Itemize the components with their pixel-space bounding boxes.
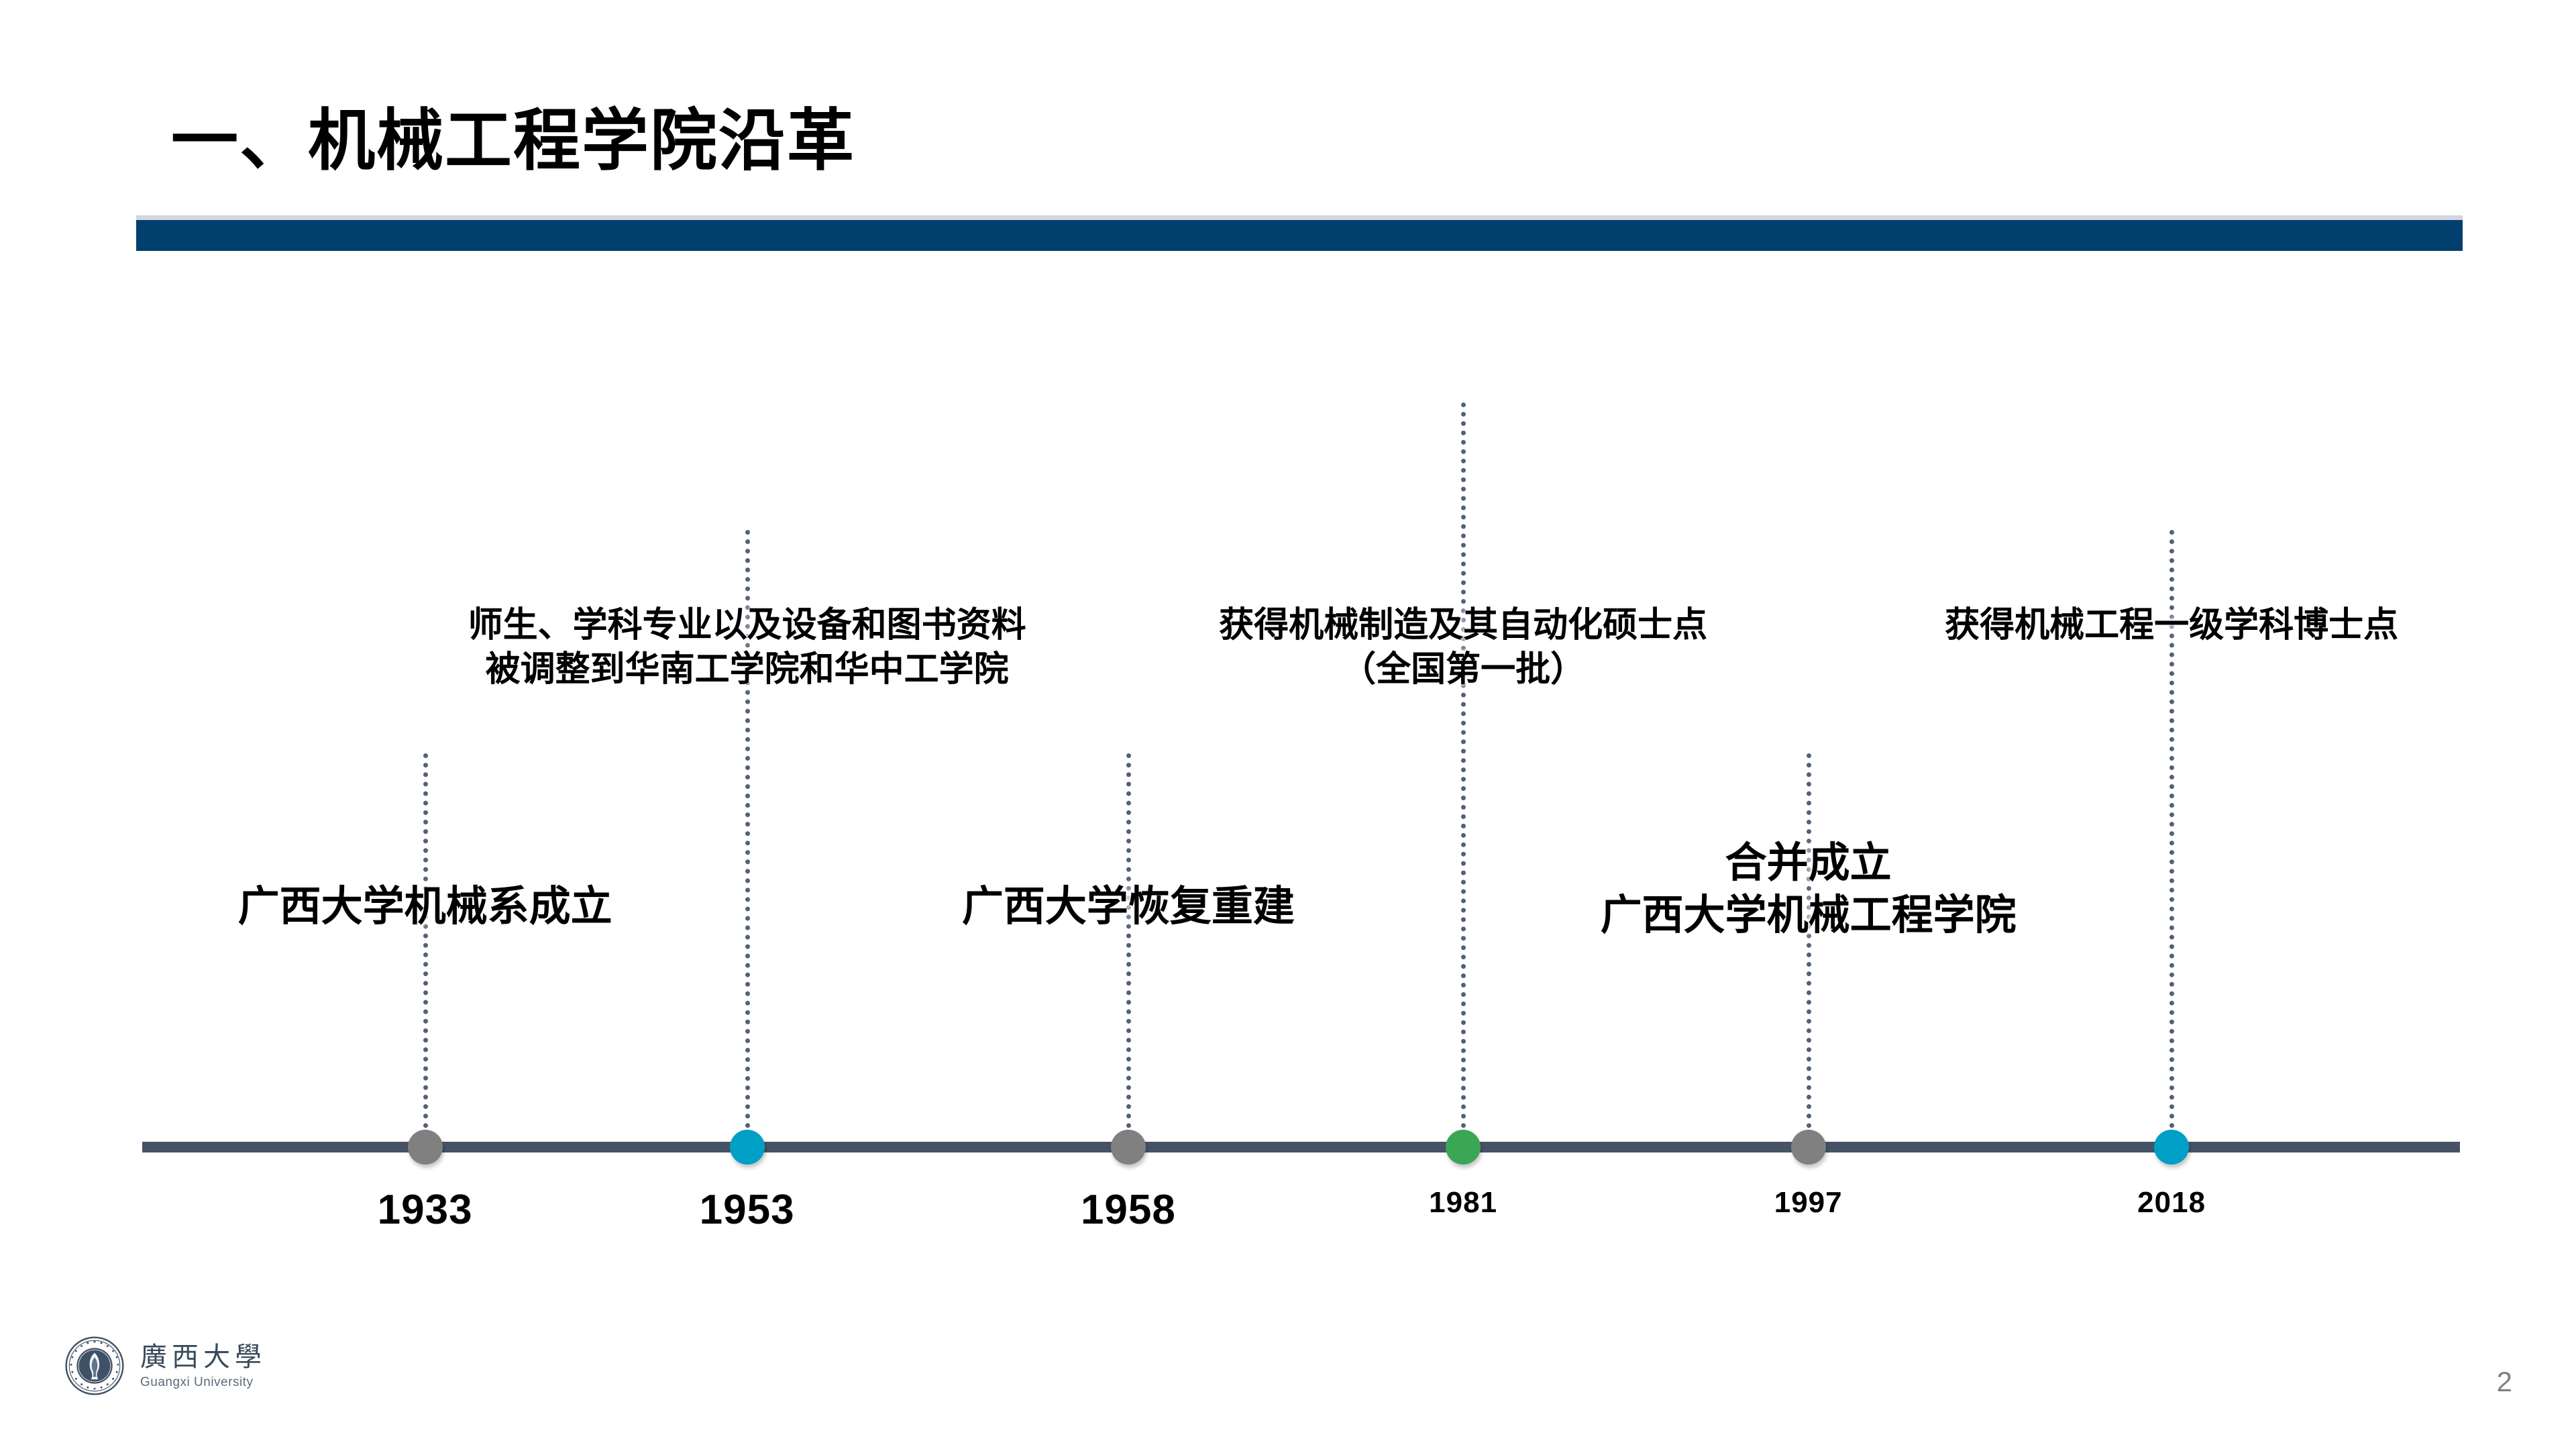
timeline-label-line: 合并成立: [1601, 837, 2017, 890]
page-number: 2: [2497, 1366, 2512, 1398]
timeline-connector: [1461, 402, 1466, 1147]
timeline-dot-1981[interactable]: [1446, 1130, 1481, 1165]
timeline-year-1981: 1981: [1429, 1186, 1497, 1220]
university-name-cn: 廣西大學: [140, 1344, 266, 1371]
timeline-connector: [1126, 753, 1131, 1147]
timeline-dot-2018[interactable]: [2154, 1130, 2189, 1165]
timeline-dot-1953[interactable]: [730, 1130, 765, 1165]
timeline-dot-1997[interactable]: [1791, 1130, 1826, 1165]
timeline-label-line: （全国第一批）: [1219, 648, 1707, 692]
timeline-axis: [142, 1142, 2460, 1152]
timeline-label-1933: 广西大学机械系成立: [238, 881, 612, 933]
timeline-label-line: 广西大学机械工程学院: [1601, 890, 2017, 942]
timeline-label-1997: 合并成立广西大学机械工程学院: [1601, 837, 2017, 942]
timeline-label-1953: 师生、学科专业以及设备和图书资料被调整到华南工学院和华中工学院: [468, 604, 1026, 692]
timeline-connector: [1807, 753, 1811, 1147]
timeline-label-line: 获得机械工程一级学科博士点: [1945, 604, 2398, 648]
timeline-label-2018: 获得机械工程一级学科博士点: [1945, 604, 2398, 648]
university-name-en: Guangxi University: [140, 1376, 266, 1389]
timeline-connector: [423, 753, 428, 1147]
timeline-label-line: 获得机械制造及其自动化硕士点: [1219, 604, 1707, 648]
guangxi-university-seal-icon: [64, 1335, 125, 1397]
timeline-label-1981: 获得机械制造及其自动化硕士点（全国第一批）: [1219, 604, 1707, 692]
timeline-label-line: 师生、学科专业以及设备和图书资料: [468, 604, 1026, 648]
timeline-year-1933: 1933: [378, 1186, 473, 1234]
timeline-year-1953: 1953: [700, 1186, 795, 1234]
timeline-label-line: 广西大学机械系成立: [238, 881, 612, 933]
university-logo-text: 廣西大學 Guangxi University: [140, 1344, 266, 1389]
university-logo: 廣西大學 Guangxi University: [64, 1335, 266, 1397]
timeline-label-line: 被调整到华南工学院和华中工学院: [468, 648, 1026, 692]
timeline-year-1997: 1997: [1774, 1186, 1843, 1220]
timeline-label-line: 广西大学恢复重建: [962, 881, 1295, 933]
timeline-year-1958: 1958: [1081, 1186, 1176, 1234]
timeline-label-1958: 广西大学恢复重建: [962, 881, 1295, 933]
timeline-year-2018: 2018: [2137, 1186, 2206, 1220]
timeline-dot-1933[interactable]: [408, 1130, 443, 1165]
timeline-chart: 1933广西大学机械系成立1953师生、学科专业以及设备和图书资料被调整到华南工…: [0, 0, 2576, 1449]
timeline-dot-1958[interactable]: [1111, 1130, 1146, 1165]
